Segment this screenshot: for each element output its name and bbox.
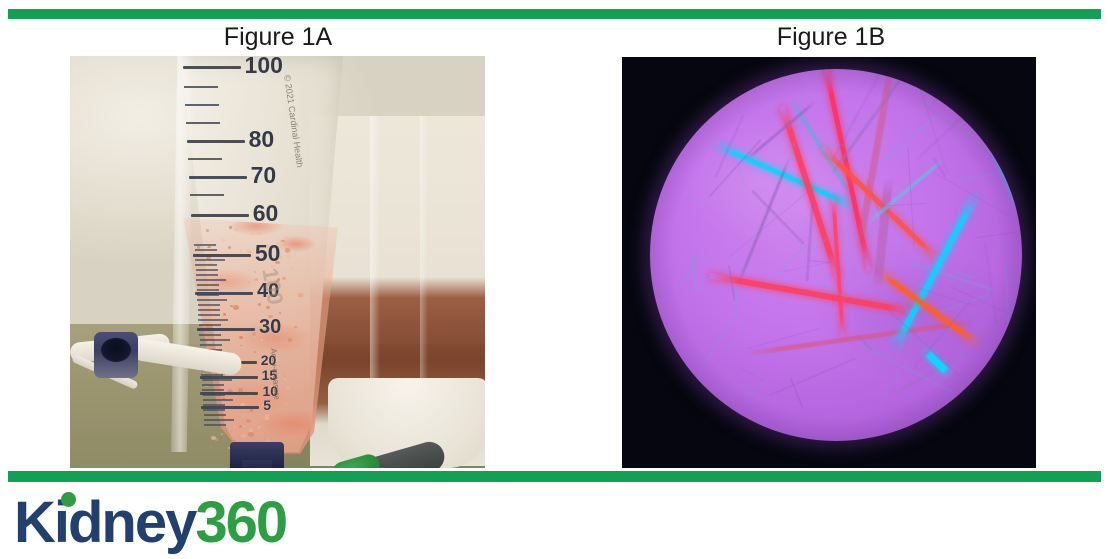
scale-number: 70 <box>251 162 277 189</box>
scale-number: 80 <box>249 126 275 153</box>
figure-1b-caption: Figure 1B <box>553 23 1109 52</box>
sediment-speck <box>286 386 290 389</box>
scale-minor-tick <box>198 309 220 311</box>
sediment-speck <box>291 313 296 317</box>
sediment-speck <box>288 338 293 342</box>
scale-minor-tick <box>199 329 221 331</box>
scale-tick <box>185 104 219 106</box>
sediment-speck <box>261 339 263 341</box>
sediment-speck <box>249 429 253 432</box>
logo-green-dot-icon <box>61 492 76 507</box>
sediment-speck <box>258 426 261 428</box>
sediment-speck <box>294 326 296 328</box>
scale-minor-tick <box>196 269 218 271</box>
sediment-speck <box>233 305 239 310</box>
scale-minor-tick <box>195 264 217 266</box>
sediment-speck <box>246 419 251 423</box>
scale-minor-tick <box>202 384 224 386</box>
scale-minor-tick <box>201 374 223 376</box>
scale-minor-tick <box>197 284 219 286</box>
scale-minor-tick <box>195 249 217 251</box>
scale-minor-tick <box>197 299 227 301</box>
sediment-speck <box>265 414 270 418</box>
scale-tick <box>186 122 220 124</box>
sediment-speck <box>250 409 253 411</box>
top-green-rule <box>8 9 1101 19</box>
sediment-speck <box>231 259 233 261</box>
microscope-field <box>650 69 1022 441</box>
scale-tick <box>183 66 241 69</box>
scale-minor-tick <box>199 334 221 336</box>
sediment-speck <box>229 226 232 228</box>
sediment-speck <box>240 250 243 252</box>
scale-minor-tick <box>200 339 230 341</box>
scale-minor-tick <box>196 279 226 281</box>
scale-minor-tick <box>198 314 220 316</box>
sediment-speck <box>221 433 223 435</box>
scale-number: 100 <box>245 56 283 79</box>
sediment-speck <box>256 231 261 235</box>
bag-fold <box>420 116 428 416</box>
scale-tick <box>189 176 247 179</box>
figure-1b-image <box>622 57 1036 468</box>
bottom-green-rule <box>8 471 1101 482</box>
scale-minor-tick <box>203 394 225 396</box>
sediment-speck <box>244 336 246 337</box>
logo-word-360: 360 <box>195 490 286 555</box>
scale-number: 60 <box>253 200 279 227</box>
sediment-speck <box>230 319 235 323</box>
scale-minor-tick <box>202 379 232 381</box>
sediment-speck <box>206 229 209 231</box>
sediment-speck <box>252 332 257 336</box>
scale-minor-tick <box>198 319 228 321</box>
sediment-speck <box>211 436 216 440</box>
sediment-speck <box>246 249 251 253</box>
sampling-port-opening <box>101 338 131 362</box>
crystal-debris <box>735 285 738 318</box>
sediment-speck <box>233 289 236 291</box>
sediment-speck <box>210 446 212 448</box>
sediment-speck <box>285 248 291 253</box>
scale-number: 50 <box>255 240 281 267</box>
figure-page: Figure 1A Figure 1B 10080706050403020151… <box>0 0 1109 559</box>
scale-tick <box>184 86 218 88</box>
sediment-speck <box>239 306 243 310</box>
sediment-speck <box>286 254 292 258</box>
figure-1a-image: 1008070605040302015105 © 2021 Cardinal H… <box>70 56 485 468</box>
scale-minor-tick <box>202 389 224 391</box>
scale-minor-tick <box>196 274 218 276</box>
scale-minor-tick <box>203 404 225 406</box>
figure-1a-caption: Figure 1A <box>0 23 556 52</box>
sediment-speck <box>283 315 285 317</box>
sediment-speck <box>287 278 289 280</box>
scale-tick <box>191 214 249 217</box>
scale-minor-tick <box>195 254 217 256</box>
sediment-speck <box>233 426 236 428</box>
scale-minor-tick <box>198 304 220 306</box>
kidney360-logo: Kidney360 <box>14 492 286 554</box>
scale-number: 30 <box>259 316 281 339</box>
scale-minor-tick <box>197 294 219 296</box>
scale-minor-tick <box>204 424 226 426</box>
sediment-speck <box>254 351 256 353</box>
scale-minor-tick <box>199 324 221 326</box>
drain-valve-stem <box>242 460 272 468</box>
scale-tick <box>188 158 222 160</box>
scale-minor-tick <box>204 419 234 421</box>
sediment-speck <box>266 306 270 309</box>
scale-tick <box>187 140 245 143</box>
scale-minor-tick <box>200 344 222 346</box>
sediment-speck <box>301 287 304 290</box>
urine-bag-photo: 1008070605040302015105 © 2021 Cardinal H… <box>70 56 485 468</box>
sediment-speck <box>221 306 224 308</box>
scale-tick <box>190 194 224 196</box>
scale-minor-tick <box>194 244 216 246</box>
sediment-speck <box>299 292 304 296</box>
scale-minor-tick <box>203 409 225 411</box>
polarized-micrograph <box>622 57 1036 468</box>
sediment-speck <box>223 313 226 315</box>
scale-number: 5 <box>263 397 271 413</box>
sediment-speck <box>258 303 261 305</box>
sediment-speck <box>254 336 256 338</box>
sediment-speck <box>228 246 231 249</box>
logo-word-kidney: Kidney <box>14 490 195 555</box>
sediment-speck <box>251 233 254 236</box>
scale-minor-tick <box>197 289 219 291</box>
scale-minor-tick <box>204 414 226 416</box>
scale-minor-tick <box>195 259 225 261</box>
sediment-speck <box>239 336 243 339</box>
sediment-speck <box>248 432 254 437</box>
scale-minor-tick <box>203 399 233 401</box>
sediment-speck <box>285 330 287 332</box>
